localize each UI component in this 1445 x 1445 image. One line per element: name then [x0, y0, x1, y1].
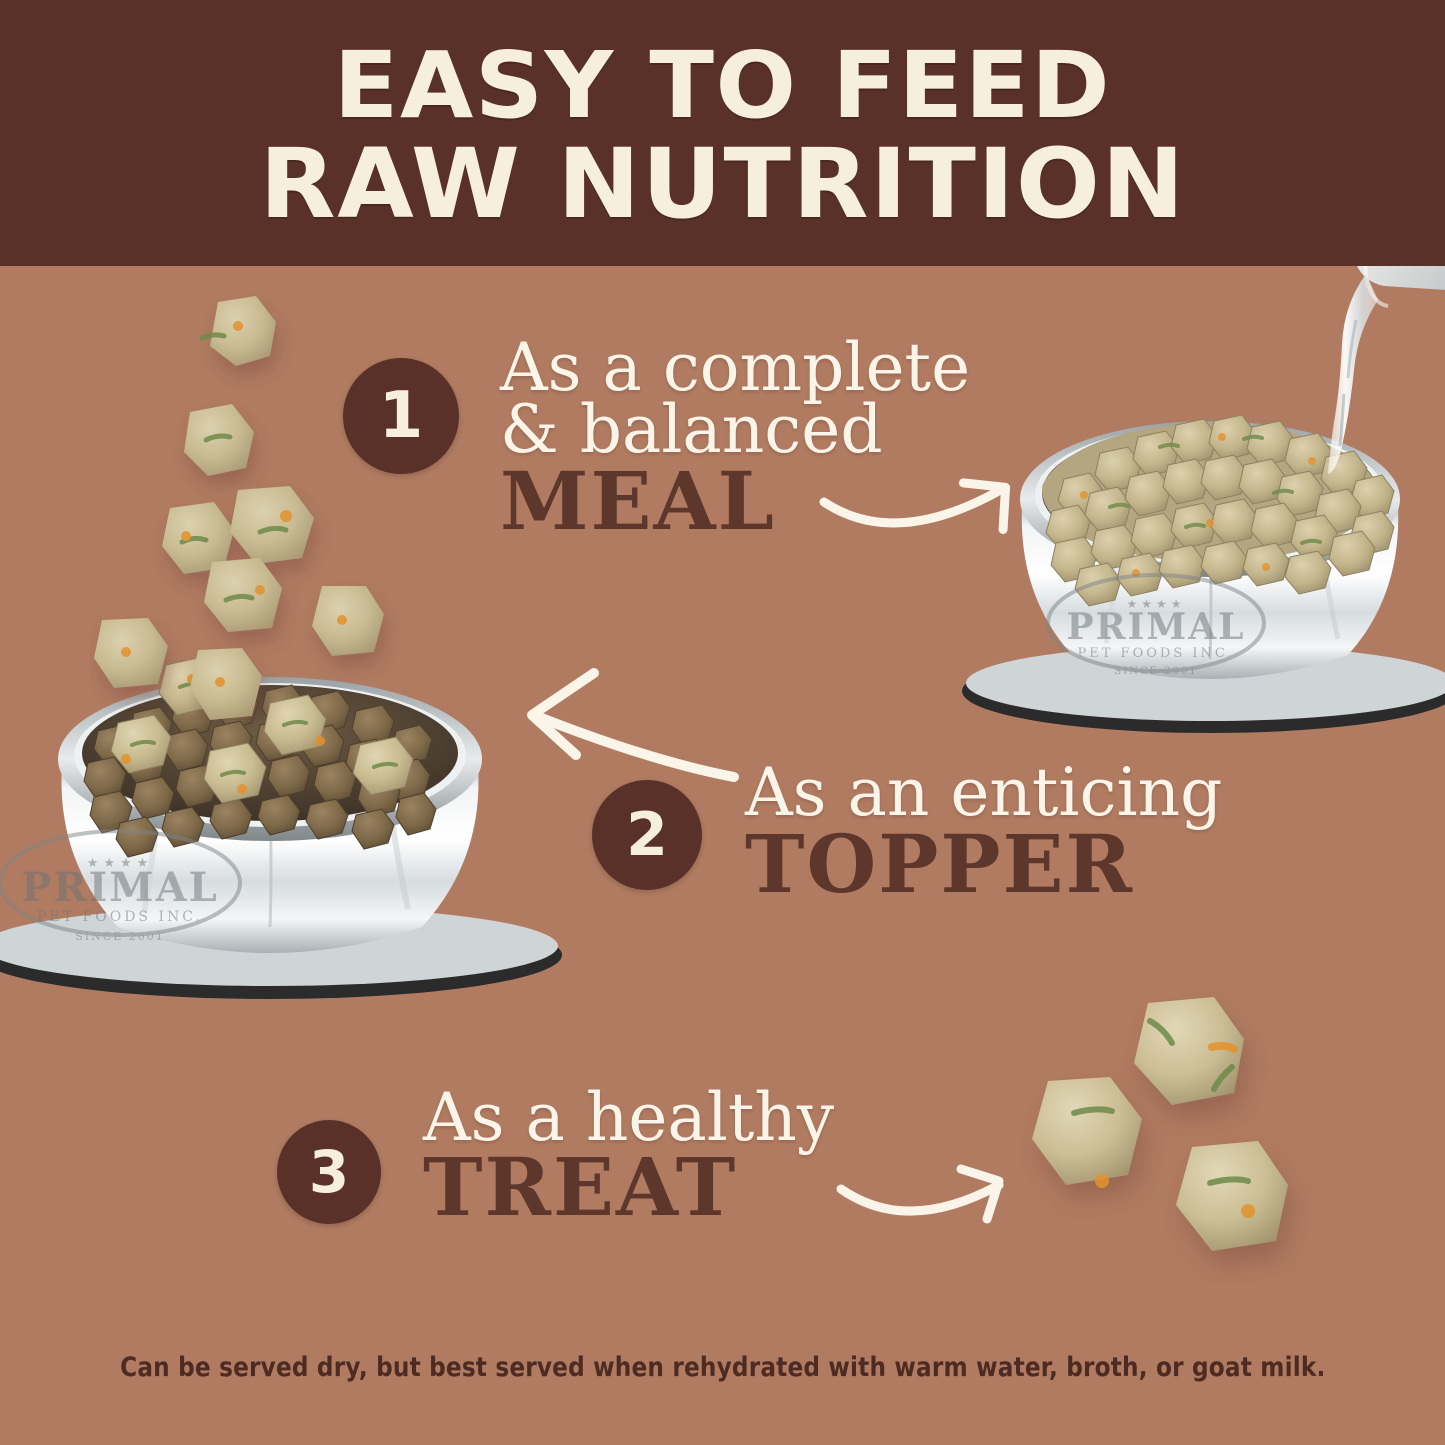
curved-arrow-left-icon: [498, 665, 748, 805]
step-3-emphasis: TREAT: [423, 1151, 834, 1225]
step-1-line-1: As a complete: [500, 337, 970, 399]
promo-graphic: ★★★★ PRIMAL PET FOODS INC. SINCE 2001: [0, 0, 1445, 1445]
step-2-number: 2: [626, 800, 668, 870]
svg-text:PET FOODS INC.: PET FOODS INC.: [1078, 646, 1235, 661]
headline-line-1: EASY TO FEED: [334, 41, 1112, 131]
step-2-emphasis: TOPPER: [745, 828, 1222, 902]
curved-arrow-right-icon: [818, 460, 1068, 560]
loose-nuggets-treat: [1020, 985, 1360, 1285]
step-2-line-1: As an enticing: [745, 762, 1222, 824]
step-3-badge: 3: [277, 1120, 381, 1224]
svg-text:PRIMAL: PRIMAL: [1067, 606, 1246, 648]
svg-text:SINCE 2001: SINCE 2001: [75, 930, 164, 943]
svg-text:PRIMAL: PRIMAL: [21, 864, 218, 911]
step-3-number: 3: [309, 1138, 349, 1206]
step-2-text: As an enticing TOPPER: [745, 762, 1222, 902]
footer-note-wrap: Can be served dry, but best served when …: [0, 1352, 1445, 1383]
svg-text:PET FOODS INC.: PET FOODS INC.: [37, 909, 203, 925]
headline-line-2: RAW NUTRITION: [259, 137, 1185, 231]
curved-arrow-right-icon: [835, 1155, 1045, 1255]
step-3-text: As a healthy TREAT: [423, 1087, 834, 1225]
step-1-line-2: & balanced: [500, 399, 970, 461]
falling-nuggets-left: [90, 290, 440, 720]
footer-note: Can be served dry, but best served when …: [120, 1352, 1325, 1383]
header-banner: EASY TO FEED RAW NUTRITION: [0, 0, 1445, 266]
svg-text:SINCE 2001: SINCE 2001: [1114, 666, 1197, 677]
